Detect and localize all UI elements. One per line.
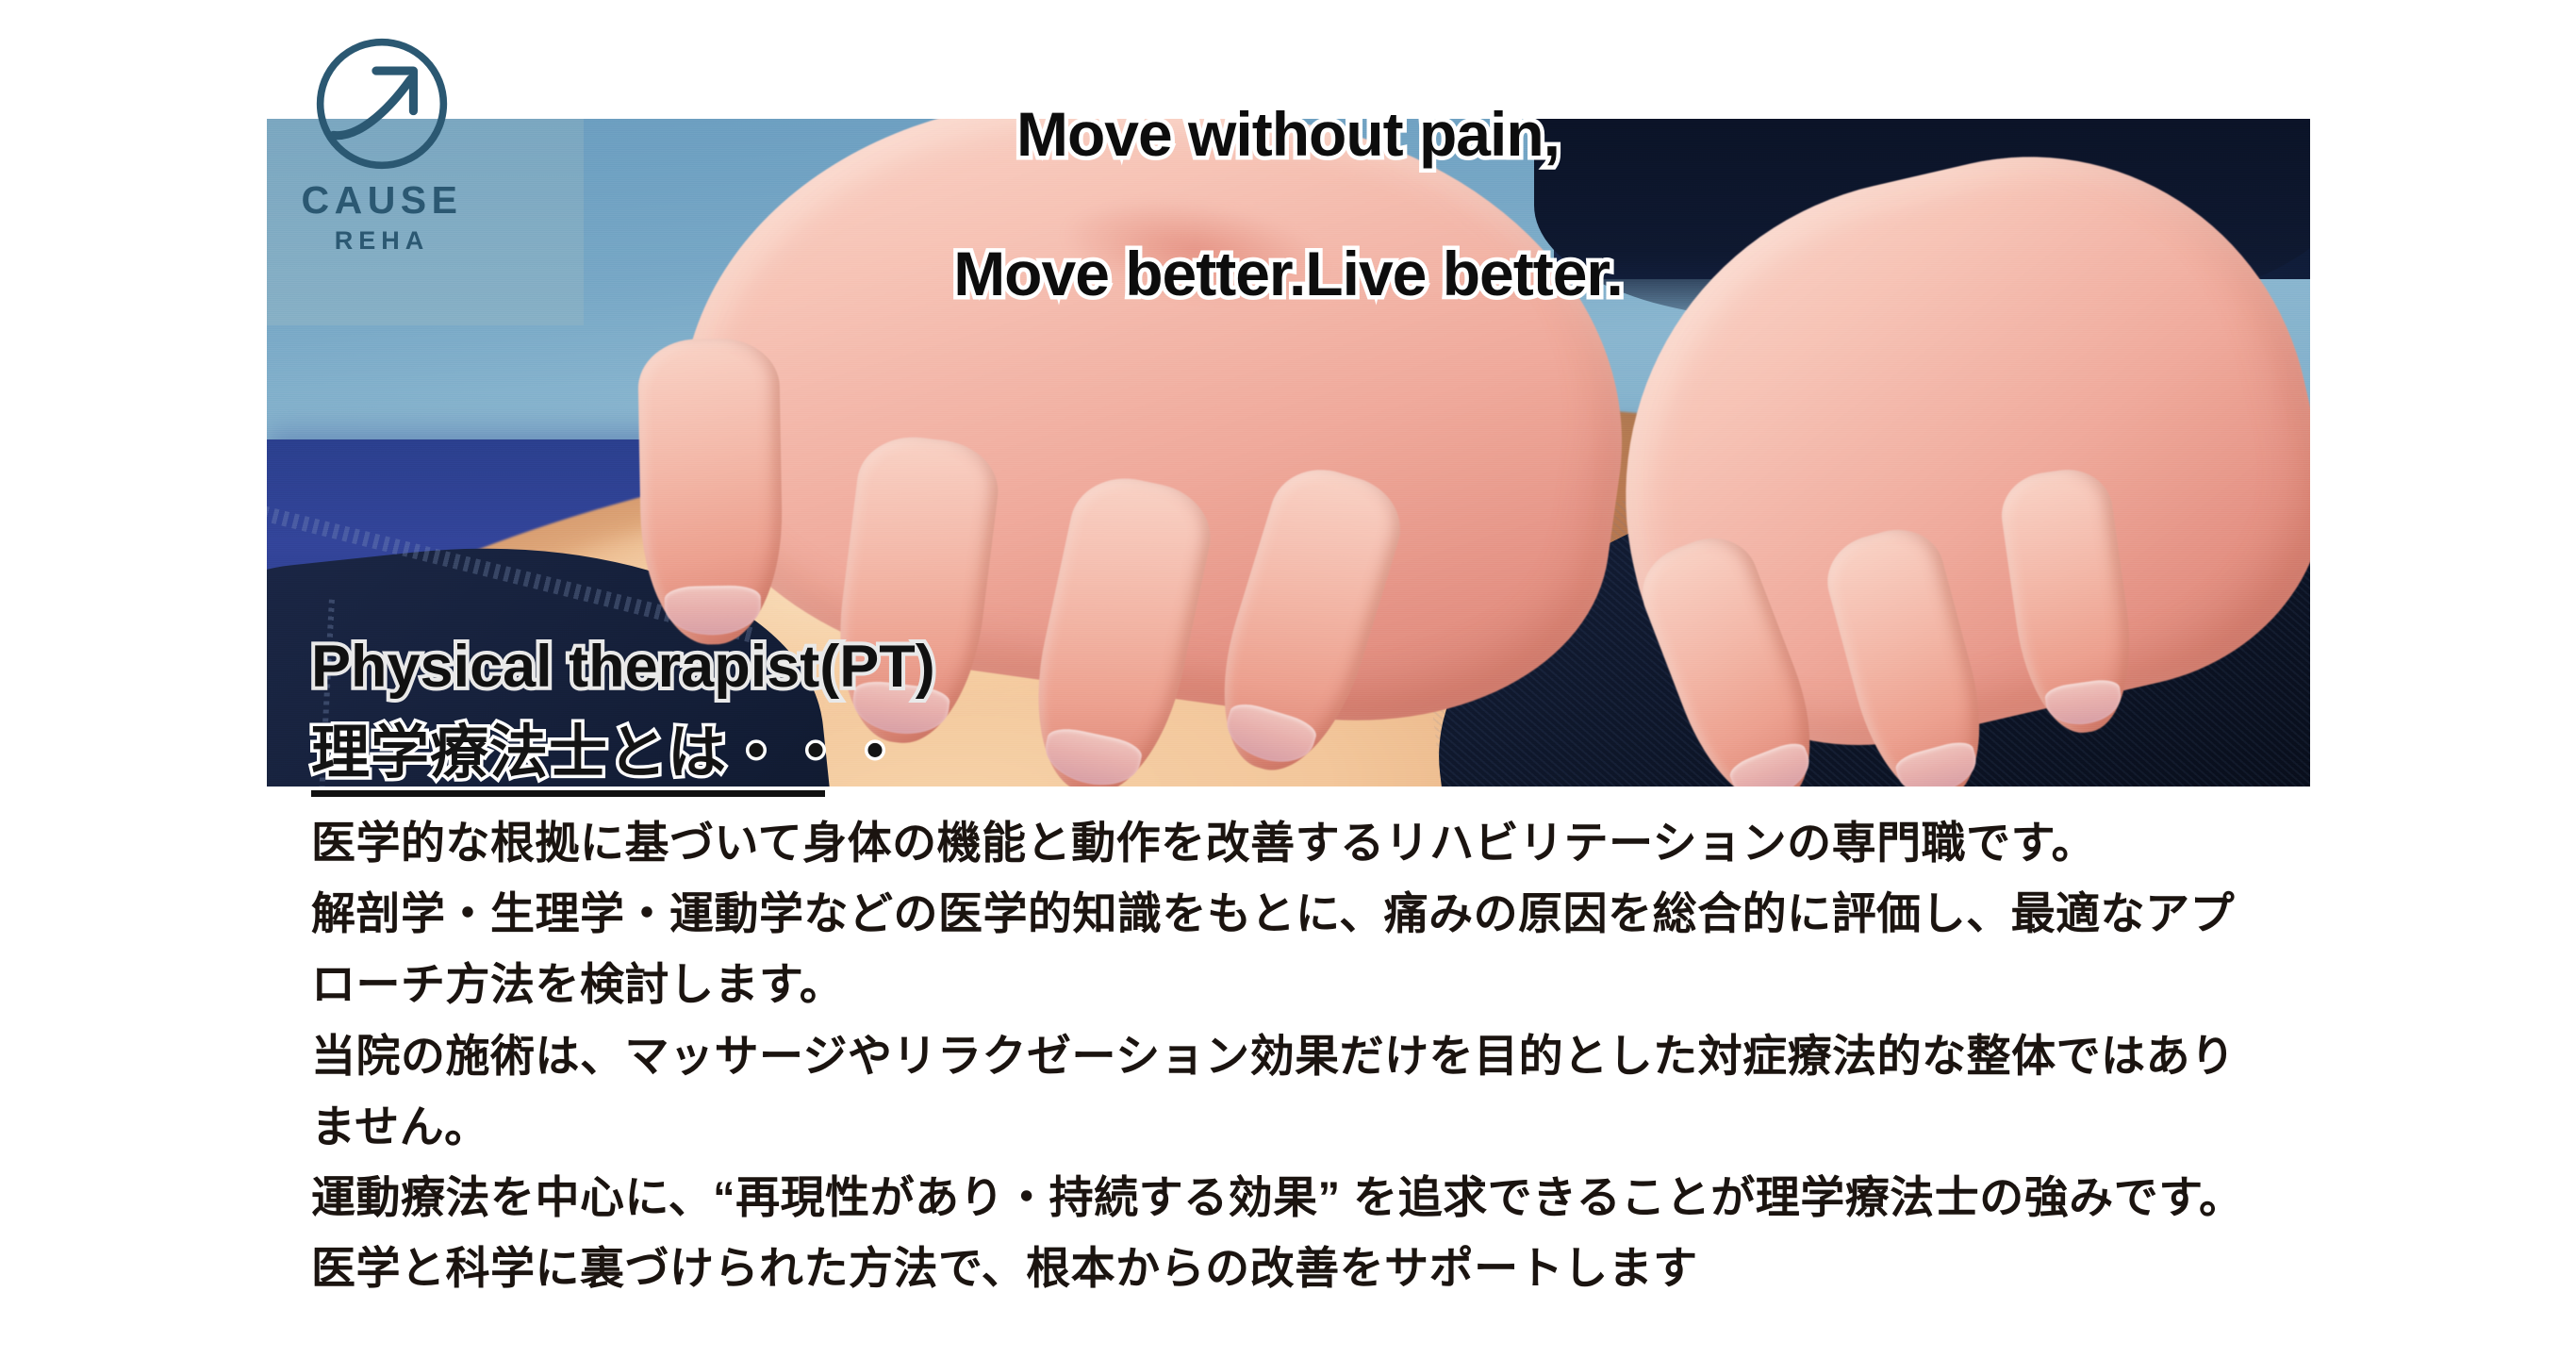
body-paragraph: 医学的な根拠に基づいて身体の機能と動作を改善するリハビリテーションの専門職です。…	[311, 807, 2386, 1303]
overlay-title-japanese: 理学療法士とは・・・	[311, 724, 905, 783]
body-line: 運動療法を中心に、“再現性があり・持続する効果” を追求できることが理学療法士の…	[311, 1162, 2386, 1233]
body-line: ません。	[311, 1091, 2386, 1162]
headline-line-2: Move better.Live better.	[0, 240, 2576, 309]
body-line: 当院の施術は、マッサージやリラクゼーション効果だけを目的とした対症療法的な整体で…	[311, 1020, 2386, 1091]
page-root: CAUSE REHA Move without pain, Move bette…	[0, 0, 2576, 1358]
overlay-title-underline	[311, 790, 825, 797]
body-line: 医学と科学に裏づけられた方法で、根本からの改善をサポートします	[311, 1233, 2386, 1303]
body-line: 医学的な根拠に基づいて身体の機能と動作を改善するリハビリテーションの専門職です。	[311, 807, 2386, 878]
overlay-title-english: Physical therapist(PT)	[311, 638, 935, 697]
headline-line-1: Move without pain,	[0, 100, 2576, 170]
page-headline: Move without pain, Move better.Live bett…	[0, 30, 2576, 379]
body-line: 解剖学・生理学・運動学などの医学的知識をもとに、痛みの原因を総合的に評価し、最適…	[311, 878, 2386, 949]
body-line: ローチ方法を検討します。	[311, 949, 2386, 1019]
